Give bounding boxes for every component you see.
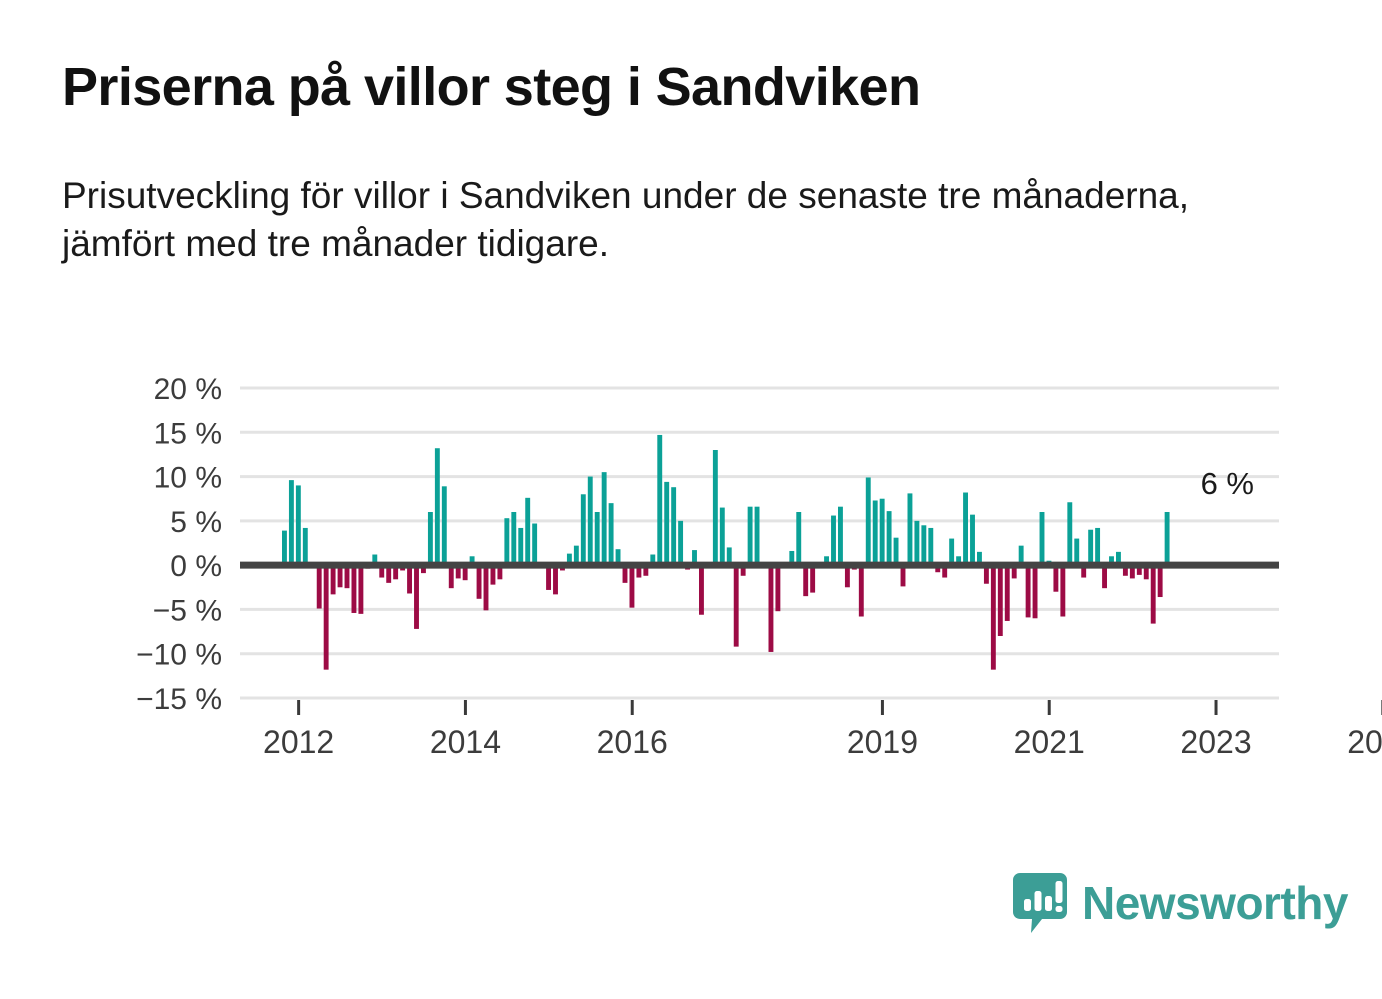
last-value-annotation: 6 % — [1201, 466, 1254, 501]
x-tick-label: 2019 — [847, 724, 918, 760]
bar — [282, 531, 287, 566]
bar — [1060, 565, 1065, 616]
bar — [623, 565, 628, 583]
bar — [1012, 565, 1017, 578]
x-tick-label: 2021 — [1014, 724, 1085, 760]
bar — [713, 450, 718, 565]
bar — [928, 528, 933, 565]
bar — [685, 565, 690, 569]
bar — [1040, 512, 1045, 565]
bar — [609, 503, 614, 565]
bar — [949, 539, 954, 566]
bar — [762, 565, 767, 568]
bar — [956, 556, 961, 565]
bar — [908, 493, 913, 565]
bar — [963, 493, 968, 566]
bar — [977, 552, 982, 565]
logo-wordmark: Newsworthy — [1082, 880, 1348, 926]
x-tick-label: 2025 — [1347, 724, 1382, 760]
bar — [553, 565, 558, 594]
bar — [706, 565, 711, 568]
bar — [1116, 552, 1121, 565]
bar — [1158, 565, 1163, 597]
bar — [894, 538, 899, 565]
bar — [574, 546, 579, 565]
bar — [1095, 528, 1100, 565]
bar — [831, 516, 836, 566]
bar — [428, 512, 433, 565]
bar — [769, 565, 774, 652]
bar — [588, 477, 593, 566]
bar — [477, 565, 482, 599]
bar — [352, 565, 357, 613]
bar — [873, 500, 878, 565]
x-tick-label: 2014 — [430, 724, 501, 760]
bar — [998, 565, 1003, 636]
newsworthy-bubble-bars-icon — [1012, 872, 1068, 934]
bar — [365, 565, 370, 569]
bar — [595, 512, 600, 565]
bar — [435, 448, 440, 565]
bar — [1047, 561, 1052, 565]
bar — [803, 565, 808, 596]
bar — [470, 556, 475, 565]
bar — [775, 565, 780, 611]
bar — [678, 521, 683, 565]
bar — [532, 524, 537, 566]
chart-subtitle: Prisutveckling för villor i Sandviken un… — [62, 116, 1292, 268]
bar — [671, 487, 676, 565]
bar — [560, 565, 565, 570]
bar — [1019, 546, 1024, 565]
bar — [1102, 565, 1107, 588]
bar — [386, 565, 391, 583]
bar — [616, 549, 621, 565]
bar — [984, 565, 989, 584]
bar — [866, 477, 871, 565]
bar — [664, 482, 669, 565]
bar — [567, 554, 572, 566]
chart-header: Priserna på villor steg i Sandviken Pris… — [62, 58, 1322, 269]
bar — [518, 528, 523, 565]
bar — [1053, 565, 1058, 592]
bar — [789, 551, 794, 565]
bar — [692, 550, 697, 565]
bar — [324, 565, 329, 670]
bar — [824, 556, 829, 565]
bar — [720, 508, 725, 566]
bar — [539, 565, 544, 567]
bar — [449, 565, 454, 588]
bar — [1081, 565, 1086, 577]
bar — [1074, 539, 1079, 566]
bar — [921, 525, 926, 565]
bar — [345, 565, 350, 588]
bar — [810, 565, 815, 592]
y-tick-label: −10 % — [136, 639, 222, 672]
bar — [734, 565, 739, 646]
x-axis-labels: 2012201420162019202120232025 — [263, 700, 1382, 760]
bar — [1067, 502, 1072, 565]
bar — [727, 547, 732, 565]
bar — [358, 565, 363, 614]
bar — [303, 528, 308, 565]
bar — [1033, 565, 1038, 618]
bar — [782, 562, 787, 565]
bar — [748, 507, 753, 565]
bar — [1005, 565, 1010, 621]
bar — [372, 555, 377, 566]
bar — [970, 515, 975, 565]
bar — [699, 565, 704, 615]
bar — [880, 499, 885, 565]
bar — [852, 565, 857, 569]
bar — [838, 507, 843, 565]
bar — [484, 565, 489, 610]
bar — [414, 565, 419, 629]
bar — [602, 472, 607, 565]
bar — [511, 512, 516, 565]
y-tick-label: 20 % — [154, 373, 222, 406]
bar — [1109, 556, 1114, 565]
y-axis-labels: 20 %15 %10 %5 %0 %−5 %−10 %−15 % — [136, 373, 222, 716]
bar — [504, 518, 509, 565]
bar — [491, 565, 496, 584]
bar — [497, 565, 502, 579]
bar — [755, 507, 760, 565]
bars-group — [282, 435, 1170, 670]
y-tick-label: 10 % — [154, 462, 222, 495]
bar — [796, 512, 801, 565]
bar — [525, 498, 530, 565]
bar — [1123, 565, 1128, 576]
bar — [643, 565, 648, 576]
bar — [817, 562, 822, 565]
bar — [546, 565, 551, 590]
bar — [935, 565, 940, 572]
bar — [1144, 565, 1149, 579]
bar — [289, 480, 294, 565]
x-tick-label: 2016 — [597, 724, 668, 760]
bar — [393, 565, 398, 579]
bar — [887, 511, 892, 565]
bar — [400, 565, 405, 570]
y-tick-label: 15 % — [154, 417, 222, 450]
x-tick-label: 2012 — [263, 724, 334, 760]
bar — [1130, 565, 1135, 578]
x-tick-label: 2023 — [1180, 724, 1251, 760]
bar — [1137, 565, 1142, 575]
bar — [991, 565, 996, 670]
bar — [463, 565, 468, 580]
bar — [581, 494, 586, 565]
bar — [845, 565, 850, 587]
value-annotations: 6 % — [1201, 466, 1254, 501]
bar — [407, 565, 412, 593]
bar — [456, 565, 461, 578]
page-title: Priserna på villor steg i Sandviken — [62, 58, 1322, 116]
bar — [901, 565, 906, 586]
y-tick-label: −15 % — [136, 683, 222, 716]
bar — [296, 485, 301, 565]
bar — [657, 435, 662, 565]
bar — [1165, 512, 1170, 565]
y-tick-label: −5 % — [153, 594, 222, 627]
newsworthy-logo: Newsworthy — [1012, 872, 1348, 934]
bar — [914, 521, 919, 565]
bar — [741, 565, 746, 576]
y-tick-label: 5 % — [170, 506, 222, 539]
gridlines — [240, 388, 1279, 698]
y-tick-label: 0 % — [170, 550, 222, 583]
bar — [636, 565, 641, 577]
bar — [331, 565, 336, 594]
bar — [338, 565, 343, 587]
bar — [859, 565, 864, 616]
bar — [630, 565, 635, 608]
bar — [379, 565, 384, 577]
bar — [421, 565, 426, 573]
bar — [1088, 530, 1093, 565]
bar — [442, 486, 447, 565]
bar — [942, 565, 947, 577]
bar — [1151, 565, 1156, 623]
bar — [1026, 565, 1031, 617]
bar — [650, 555, 655, 566]
bar — [317, 565, 322, 608]
